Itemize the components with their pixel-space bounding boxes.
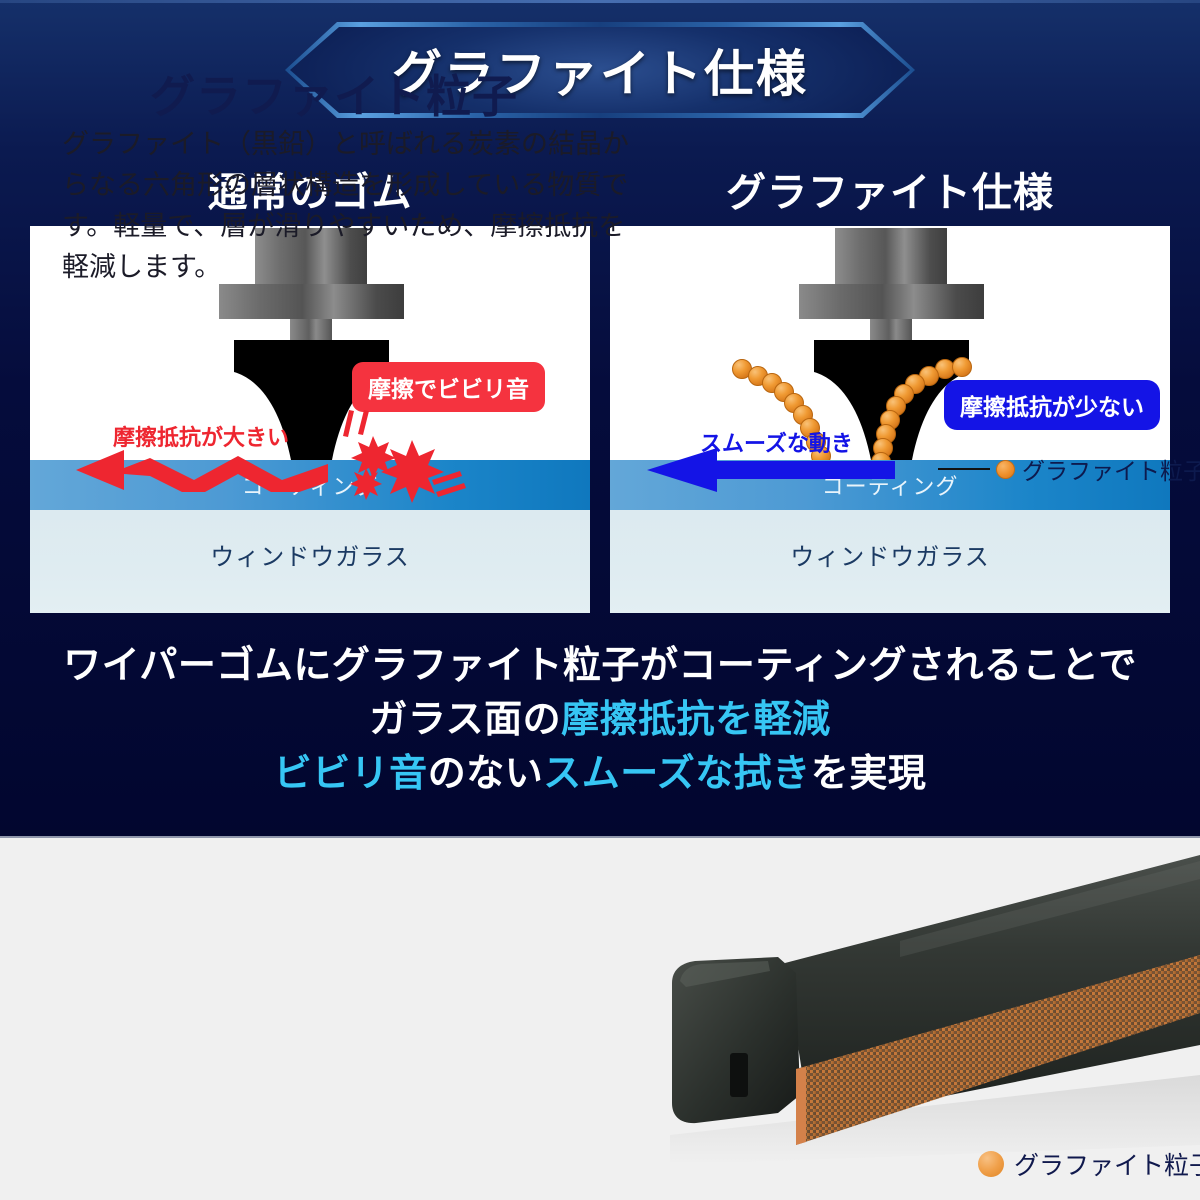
summary-line-3-plain-a: のない <box>428 753 544 795</box>
wiper-holder-neck <box>290 319 332 341</box>
bottom-section-body: グラファイト（黒鉛）と呼ばれる炭素の結晶からなる六角形の層状構造を形成している物… <box>62 124 632 288</box>
low-friction-badge: 摩擦抵抗が少ない <box>944 380 1160 430</box>
callout-label: グラファイト粒子 <box>1022 452 1200 486</box>
summary-text-block: ワイパーゴムにグラファイト粒子がコーティングされることで ガラス面の摩擦抵抗を軽… <box>0 640 1200 802</box>
top-hairline <box>0 0 1200 3</box>
callout-leader-line <box>938 468 990 470</box>
wiper-holder-flange <box>219 284 404 319</box>
legend-label: グラファイト粒子 <box>1014 1146 1200 1182</box>
summary-line-3-plain-b: を実現 <box>811 753 927 795</box>
smooth-motion-arrow <box>645 448 895 492</box>
section-divider <box>0 836 1200 838</box>
summary-line-2: ガラス面の摩擦抵抗を軽減 <box>0 694 1200 748</box>
glass-layer-normal: ウィンドウガラス <box>30 510 590 613</box>
summary-line-2-plain: ガラス面の <box>369 699 561 741</box>
friction-zigzag-arrow <box>70 440 330 492</box>
glass-layer-graphite: ウィンドウガラス <box>610 510 1170 613</box>
wiper-holder-top <box>835 228 947 286</box>
wiper-holder-neck <box>870 319 912 341</box>
summary-line-2-highlight: 摩擦抵抗を軽減 <box>561 699 831 741</box>
wiper-holder-flange <box>799 284 984 319</box>
infographic-page: グラファイト仕様 通常のゴム グラファイト仕様 コーティング <box>0 0 1200 1200</box>
glass-label: ウィンドウガラス <box>790 537 990 572</box>
graphite-particle-icon <box>978 1151 1004 1177</box>
graphite-particle-icon <box>996 460 1015 479</box>
summary-line-3-highlight-a: ビビリ音 <box>274 753 428 795</box>
glass-label: ウィンドウガラス <box>210 537 410 572</box>
graphite-particle-callout: グラファイト粒子 <box>938 452 1200 486</box>
bottom-section-title: グラファイト粒子 <box>150 60 518 125</box>
wiper-product-photo <box>600 845 1200 1175</box>
vibration-spark-icon <box>336 408 466 503</box>
summary-line-3-highlight-b: スムーズな拭き <box>543 753 811 795</box>
vibration-noise-badge: 摩擦でビビリ音 <box>352 362 545 412</box>
panel-heading-graphite: グラファイト仕様 <box>610 160 1170 218</box>
summary-line-3: ビビリ音のないスムーズな拭きを実現 <box>0 748 1200 802</box>
photo-legend: グラファイト粒子 <box>978 1146 1200 1182</box>
summary-line-1: ワイパーゴムにグラファイト粒子がコーティングされることで <box>0 640 1200 694</box>
